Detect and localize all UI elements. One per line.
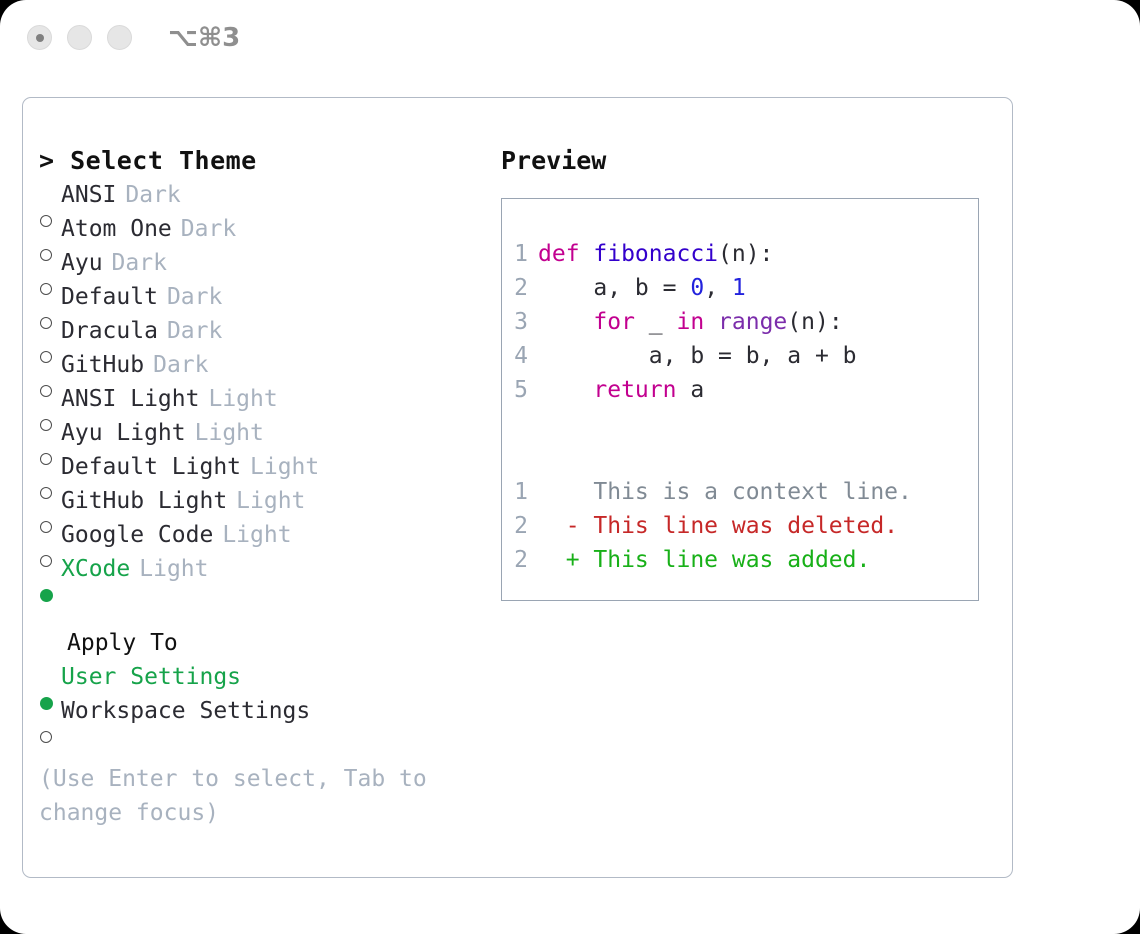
code-token bbox=[704, 309, 718, 335]
code-token: 1 bbox=[732, 275, 746, 301]
code-token: for bbox=[593, 309, 635, 335]
code-token: return bbox=[593, 377, 676, 403]
code-token: a, b = b, a + b bbox=[538, 343, 857, 369]
code-token: 0 bbox=[690, 275, 704, 301]
code-preview-box: 1def fibonacci(n):2 a, b = 0, 13 for _ i… bbox=[501, 198, 979, 601]
preview-column: Preview 1def fibonacci(n):2 a, b = 0, 13… bbox=[501, 144, 991, 601]
theme-option-label: Dracula bbox=[61, 314, 158, 348]
diff-line-text: This line was deleted. bbox=[580, 509, 899, 543]
theme-variant-tag: Dark bbox=[153, 348, 208, 382]
apply-to-option-label: User Settings bbox=[61, 660, 241, 694]
theme-variant-tag: Dark bbox=[167, 314, 222, 348]
radio-glyph bbox=[40, 385, 52, 397]
theme-option-8[interactable]: Default LightLight bbox=[39, 450, 479, 484]
theme-variant-tag: Dark bbox=[167, 280, 222, 314]
code-token: fibonacci bbox=[593, 241, 718, 267]
theme-option-label: Default bbox=[61, 280, 158, 314]
code-line: 4 a, b = b, a + b bbox=[502, 339, 978, 373]
theme-option-5[interactable]: GitHubDark bbox=[39, 348, 479, 382]
code-spacer bbox=[502, 407, 978, 441]
theme-option-11[interactable]: XCodeLight bbox=[39, 552, 479, 586]
theme-variant-tag: Light bbox=[208, 382, 277, 416]
close-button[interactable] bbox=[27, 25, 52, 50]
theme-option-label: GitHub Light bbox=[61, 484, 227, 518]
code-token: range bbox=[718, 309, 787, 335]
code-token: def bbox=[538, 241, 593, 267]
code-line-number: 4 bbox=[502, 339, 538, 373]
code-token: in bbox=[676, 309, 704, 335]
code-line-number: 3 bbox=[502, 305, 538, 339]
code-line-number: 2 bbox=[502, 271, 538, 305]
theme-option-label: ANSI Light bbox=[61, 382, 199, 416]
radio-glyph bbox=[40, 555, 52, 567]
radio-glyph bbox=[40, 697, 53, 710]
theme-option-10[interactable]: Google CodeLight bbox=[39, 518, 479, 552]
code-line-number: 1 bbox=[502, 237, 538, 271]
page-title: > Select Theme bbox=[39, 144, 479, 178]
radio-glyph bbox=[40, 453, 52, 465]
title-bar: ⌥⌘3 bbox=[0, 0, 1140, 78]
code-line-text: a, b = b, a + b bbox=[538, 339, 857, 373]
diff-line-context: 1 This is a context line. bbox=[502, 475, 978, 509]
theme-variant-tag: Dark bbox=[112, 246, 167, 280]
code-token: a, b = bbox=[538, 275, 690, 301]
diff-line-number: 1 bbox=[502, 475, 538, 509]
diff-line-deleted: 2 - This line was deleted. bbox=[502, 509, 978, 543]
theme-variant-tag: Light bbox=[222, 518, 291, 552]
code-line-text: for _ in range(n): bbox=[538, 305, 843, 339]
window-controls bbox=[27, 25, 132, 50]
diff-sample: 1 This is a context line.2 - This line w… bbox=[502, 475, 978, 577]
radio-glyph bbox=[40, 419, 52, 431]
code-line-text: def fibonacci(n): bbox=[538, 237, 773, 271]
theme-option-label: Atom One bbox=[61, 212, 172, 246]
radio-glyph bbox=[40, 283, 52, 295]
theme-option-label: Google Code bbox=[61, 518, 213, 552]
radio-glyph bbox=[40, 215, 52, 227]
code-token: _ bbox=[635, 309, 677, 335]
apply-to-option-label: Workspace Settings bbox=[61, 694, 310, 728]
diff-line-added: 2 + This line was added. bbox=[502, 543, 978, 577]
radio-glyph bbox=[40, 487, 52, 499]
theme-selector-column: > Select Theme ANSIDarkAtom OneDarkAyuDa… bbox=[39, 144, 479, 830]
code-line-number: 5 bbox=[502, 373, 538, 407]
diff-line-text: This line was added. bbox=[580, 543, 871, 577]
theme-option-0[interactable]: ANSIDark bbox=[39, 178, 479, 212]
theme-option-label: GitHub bbox=[61, 348, 144, 382]
preview-title: Preview bbox=[501, 144, 991, 178]
apply-to-section: Apply To User SettingsWorkspace Settings bbox=[39, 626, 479, 728]
radio-glyph bbox=[40, 317, 52, 329]
theme-option-list: ANSIDarkAtom OneDarkAyuDarkDefaultDarkDr… bbox=[39, 178, 479, 586]
apply-to-option-0[interactable]: User Settings bbox=[39, 660, 479, 694]
radio-glyph bbox=[40, 589, 53, 602]
theme-variant-tag: Light bbox=[236, 484, 305, 518]
apply-to-option-1[interactable]: Workspace Settings bbox=[39, 694, 479, 728]
theme-option-label: XCode bbox=[61, 552, 130, 586]
theme-variant-tag: Dark bbox=[181, 212, 236, 246]
code-token bbox=[538, 377, 593, 403]
code-line-text: return a bbox=[538, 373, 704, 407]
theme-variant-tag: Dark bbox=[125, 178, 180, 212]
diff-marker-icon: - bbox=[538, 509, 580, 543]
code-spacer-2 bbox=[502, 441, 978, 475]
code-token: a bbox=[676, 377, 704, 403]
code-sample: 1def fibonacci(n):2 a, b = 0, 13 for _ i… bbox=[502, 237, 978, 407]
theme-option-label: ANSI bbox=[61, 178, 116, 212]
diff-line-text: This is a context line. bbox=[580, 475, 912, 509]
app-window: ⌥⌘3 > Select Theme ANSIDarkAtom OneDarkA… bbox=[0, 0, 1140, 934]
main-panel: > Select Theme ANSIDarkAtom OneDarkAyuDa… bbox=[22, 97, 1013, 878]
radio-glyph bbox=[40, 731, 52, 743]
theme-variant-tag: Light bbox=[139, 552, 208, 586]
theme-option-label: Default Light bbox=[61, 450, 241, 484]
zoom-button[interactable] bbox=[107, 25, 132, 50]
keyboard-hint-text: (Use Enter to select, Tab to change focu… bbox=[39, 762, 449, 830]
apply-to-heading: Apply To bbox=[39, 626, 479, 660]
code-token: , bbox=[704, 275, 732, 301]
apply-to-option-list: User SettingsWorkspace Settings bbox=[39, 660, 479, 728]
theme-option-label: Ayu bbox=[61, 246, 103, 280]
minimize-button[interactable] bbox=[67, 25, 92, 50]
diff-line-number: 2 bbox=[502, 509, 538, 543]
theme-option-1[interactable]: Atom OneDark bbox=[39, 212, 479, 246]
theme-option-6[interactable]: ANSI LightLight bbox=[39, 382, 479, 416]
diff-marker-icon bbox=[538, 475, 580, 509]
diff-marker-icon: + bbox=[538, 543, 580, 577]
theme-option-7[interactable]: Ayu LightLight bbox=[39, 416, 479, 450]
code-line: 2 a, b = 0, 1 bbox=[502, 271, 978, 305]
code-line-text: a, b = 0, 1 bbox=[538, 271, 746, 305]
code-token: (n): bbox=[718, 241, 773, 267]
theme-option-9[interactable]: GitHub LightLight bbox=[39, 484, 479, 518]
radio-glyph bbox=[40, 521, 52, 533]
radio-glyph bbox=[40, 249, 52, 261]
theme-option-4[interactable]: DraculaDark bbox=[39, 314, 479, 348]
code-line: 3 for _ in range(n): bbox=[502, 305, 978, 339]
code-token bbox=[538, 309, 593, 335]
radio-glyph bbox=[40, 351, 52, 363]
code-line: 1def fibonacci(n): bbox=[502, 237, 978, 271]
code-token: (n): bbox=[787, 309, 842, 335]
close-dot-icon bbox=[36, 34, 44, 42]
theme-option-label: Ayu Light bbox=[61, 416, 186, 450]
code-line: 5 return a bbox=[502, 373, 978, 407]
theme-variant-tag: Light bbox=[250, 450, 319, 484]
theme-option-2[interactable]: AyuDark bbox=[39, 246, 479, 280]
diff-line-number: 2 bbox=[502, 543, 538, 577]
theme-variant-tag: Light bbox=[195, 416, 264, 450]
keyboard-shortcut-label: ⌥⌘3 bbox=[168, 23, 240, 53]
theme-option-3[interactable]: DefaultDark bbox=[39, 280, 479, 314]
